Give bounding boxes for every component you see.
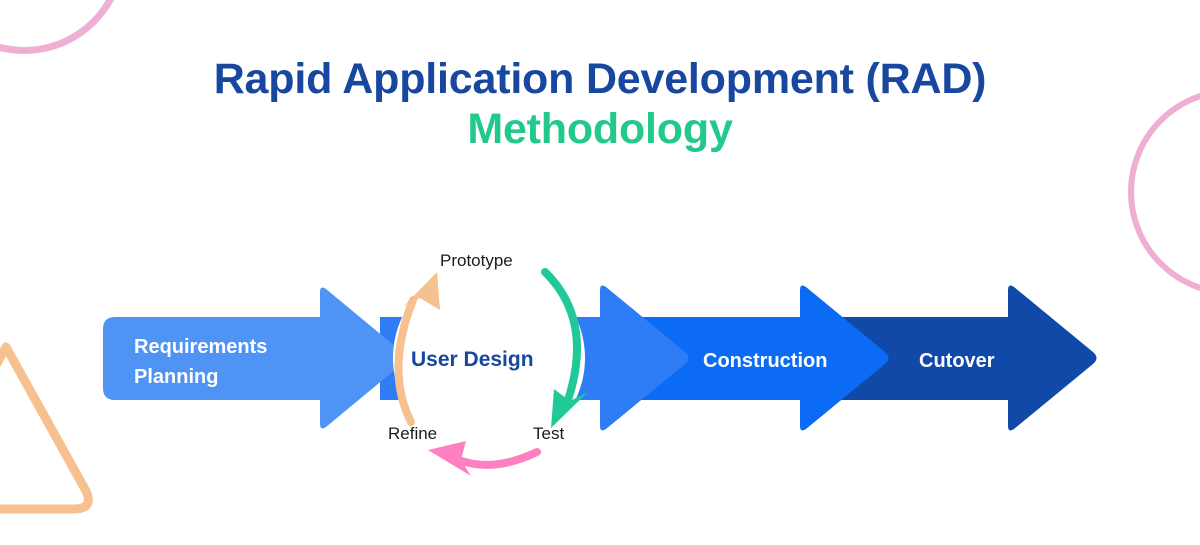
- cycle-label-refine: Refine: [388, 424, 437, 444]
- infographic-canvas: Rapid Application Development (RAD) Meth…: [0, 0, 1200, 545]
- stage-label-cutover: Cutover: [919, 347, 995, 377]
- cycle-label-test: Test: [533, 424, 564, 444]
- stage-label-user-design: User Design: [411, 348, 534, 372]
- rad-process-flow-diagram: [0, 0, 1200, 545]
- stage-label-construction: Construction: [703, 347, 827, 377]
- stage-label-requirements-planning: Requirements Planning: [134, 333, 267, 392]
- cycle-arrow-refine-icon: [462, 452, 537, 465]
- cycle-label-prototype: Prototype: [440, 251, 513, 271]
